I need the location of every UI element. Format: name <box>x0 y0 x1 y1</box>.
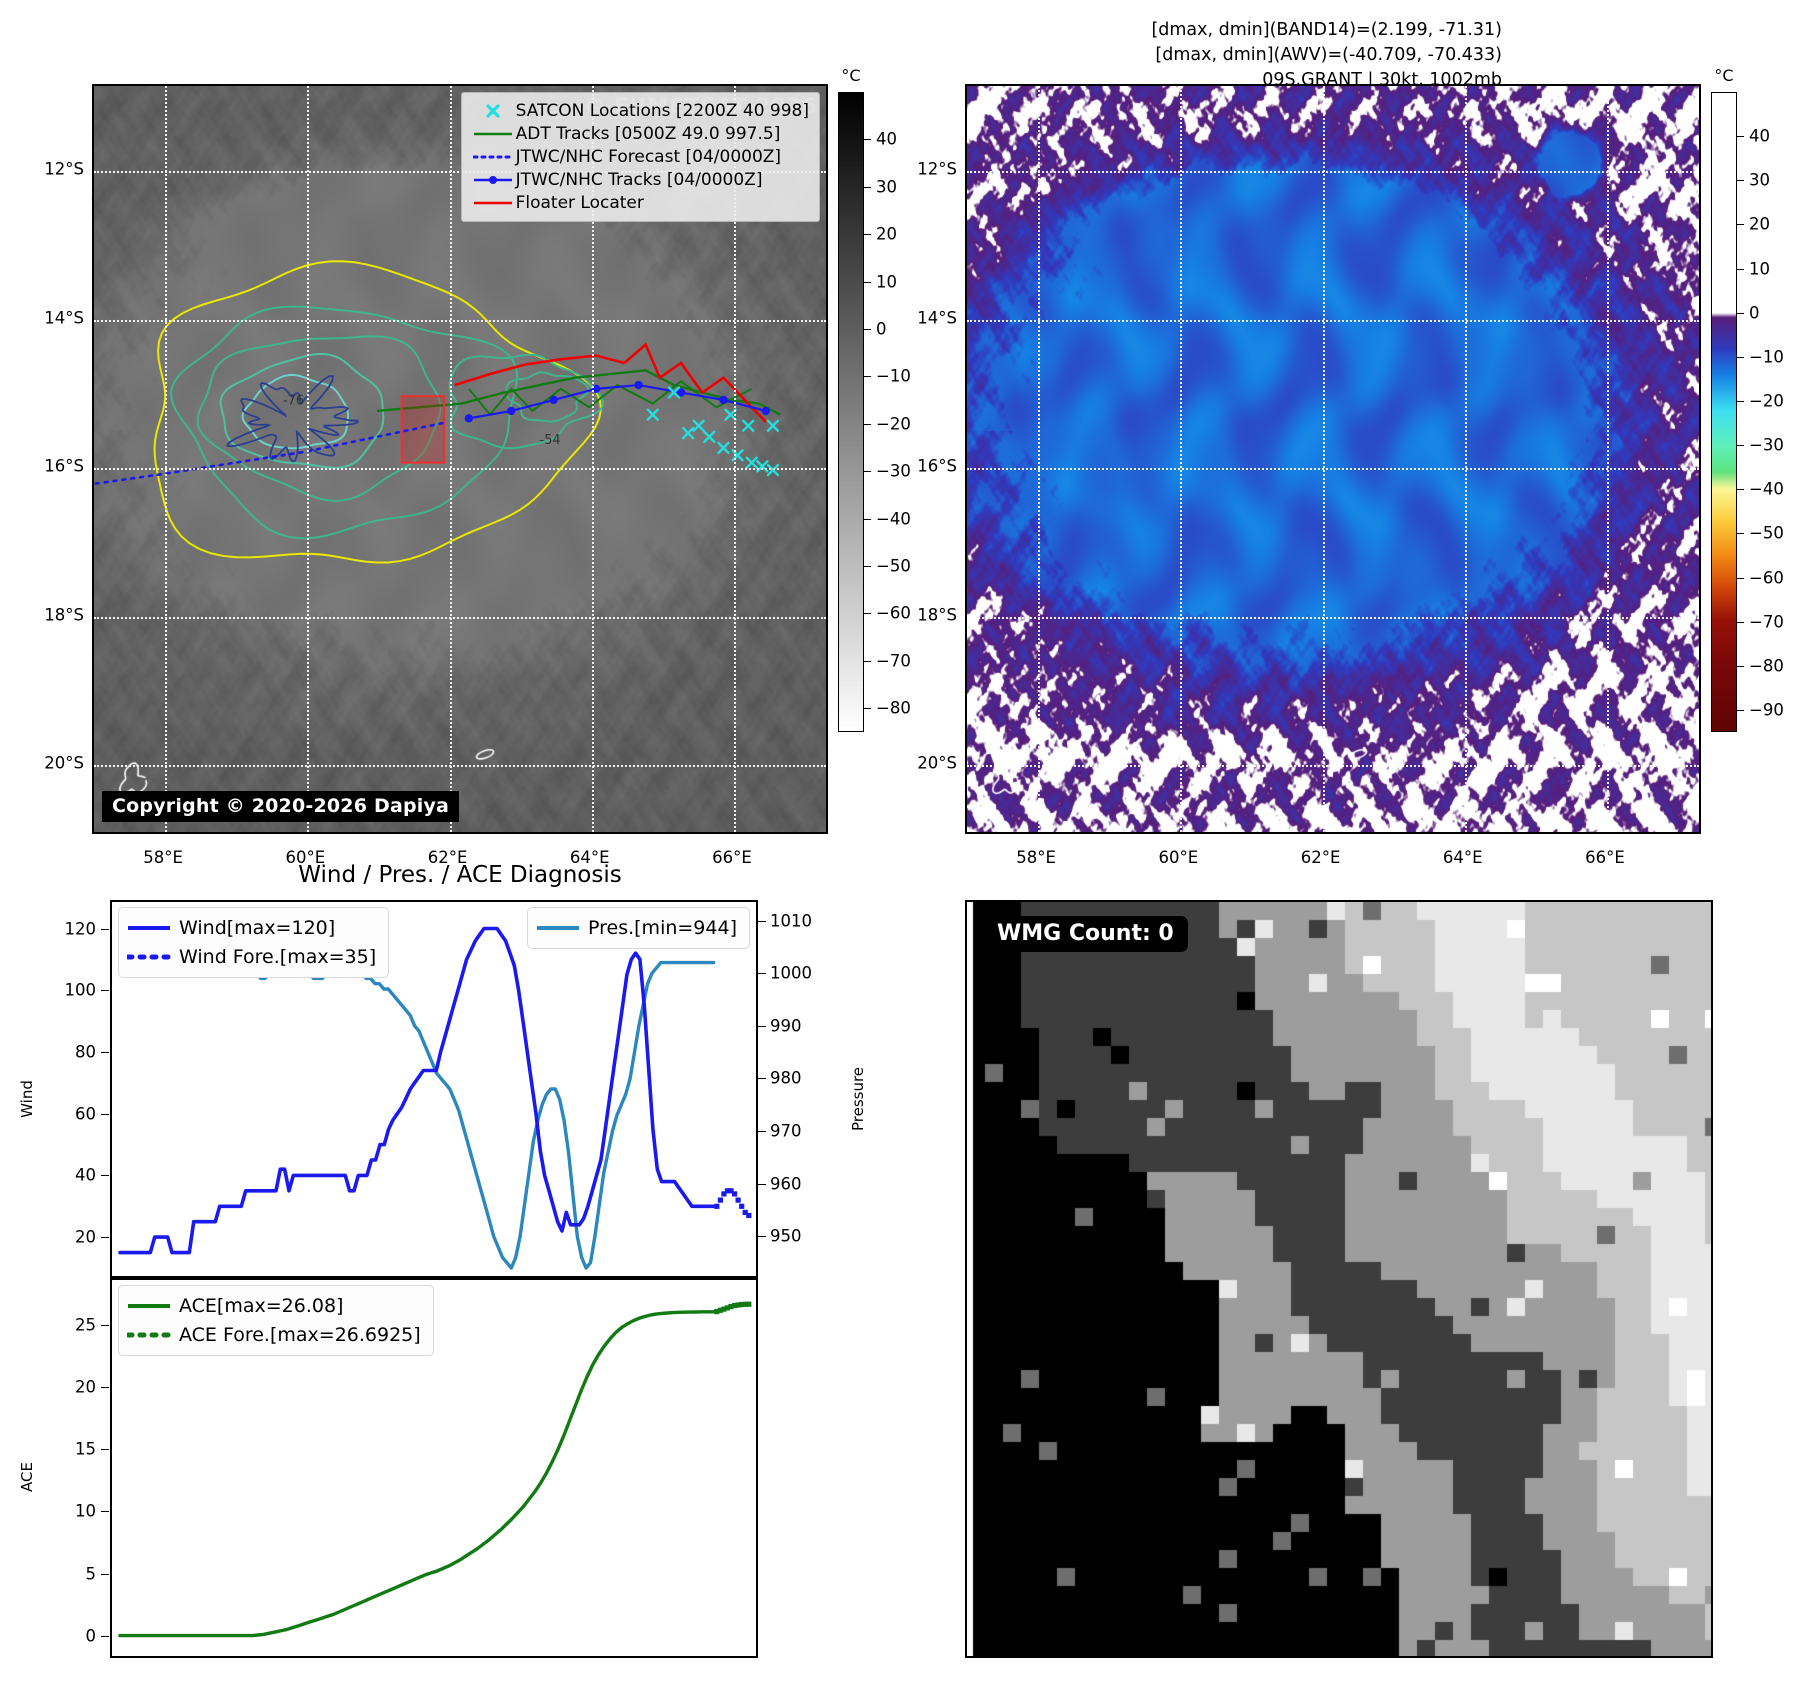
copyright-banner: Copyright © 2020-2026 Dapiya <box>102 791 459 822</box>
colorbar-tick-label: −50 <box>876 557 911 576</box>
colorbar-tickmark <box>864 519 871 520</box>
ace-axis-title: ACE <box>18 1462 36 1492</box>
pressure-legend[interactable]: Pres.[min=944] <box>527 907 750 949</box>
colorbar-tick-label: −90 <box>1749 700 1784 719</box>
colorbar-tick-label: 0 <box>1749 303 1760 322</box>
legend-label: ADT Tracks [0500Z 49.0 997.5] <box>516 124 781 144</box>
diagnosis-title: Wind / Pres. / ACE Diagnosis <box>92 862 828 888</box>
legend-item[interactable]: Wind Fore.[max=35] <box>127 942 376 971</box>
wind-tickmark <box>101 929 109 930</box>
lon-tick-label: 62°E <box>1301 848 1341 867</box>
wmg-count-badge: WMG Count: 0 <box>983 916 1188 952</box>
ace-tick-label: 0 <box>44 1626 96 1645</box>
header-info-block: [dmax, dmin](BAND14)=(2.199, -71.31) [dm… <box>1151 18 1502 93</box>
pressure-tick-label: 980 <box>770 1069 826 1088</box>
colorbar-tick-label: −10 <box>876 367 911 386</box>
wind-tick-label: 40 <box>44 1166 96 1185</box>
colorbar-tickmark <box>1737 710 1744 711</box>
colorbar-tick-label: 30 <box>876 177 897 196</box>
legend-item[interactable]: ACE[max=26.08] <box>127 1291 421 1320</box>
ace-tickmark <box>101 1574 109 1575</box>
wmg-panel[interactable]: WMG Count: 0 <box>965 900 1713 1658</box>
colorbar-tickmark <box>864 708 871 709</box>
lat-tick-label: 12°S <box>887 160 957 179</box>
wind-tickmark <box>101 990 109 991</box>
colorbar-tickmark <box>1737 533 1744 534</box>
lon-tick-label: 60°E <box>1158 848 1198 867</box>
ace-tick-label: 25 <box>44 1316 96 1335</box>
legend-item[interactable]: Pres.[min=944] <box>536 913 737 942</box>
jtwc-track-dot-icon <box>470 175 516 185</box>
colorbar-tickmark <box>864 376 871 377</box>
pressure-tick-label: 1010 <box>770 911 826 930</box>
colorbar-tickmark <box>864 471 871 472</box>
lon-tick-label: 58°E <box>1016 848 1056 867</box>
colorbar-tickmark <box>1737 401 1744 402</box>
colorbar-tick-label: −60 <box>1749 568 1784 587</box>
legend-label: SATCON Locations [2200Z 40 998] <box>516 101 809 121</box>
wind-tickmark <box>101 1114 109 1115</box>
wind-tickmark <box>101 1052 109 1053</box>
lon-tick-label: 66°E <box>1585 848 1625 867</box>
ace-legend[interactable]: ACE[max=26.08] ACE Fore.[max=26.6925] <box>118 1285 434 1356</box>
lat-tick-label: 14°S <box>887 308 957 327</box>
legend-label: Wind[max=120] <box>179 917 335 939</box>
wind-pressure-chart[interactable]: Wind[max=120] Wind Fore.[max=35] Pres.[m… <box>110 900 758 1278</box>
pressure-tickmark <box>758 1078 766 1079</box>
satcon-x-marker-icon <box>470 102 516 120</box>
wmg-cloud-classification-image <box>967 902 1711 1656</box>
ace-tickmark <box>101 1636 109 1637</box>
colorbar-tick-label: −80 <box>876 699 911 718</box>
legend-item[interactable]: JTWC/NHC Tracks [04/0000Z] <box>470 168 809 191</box>
ace-tick-label: 5 <box>44 1564 96 1583</box>
wind-line-icon <box>127 924 179 932</box>
legend-label: ACE Fore.[max=26.6925] <box>179 1324 421 1346</box>
svg-text:-54: -54 <box>540 433 561 448</box>
colorbar-tickmark <box>1737 622 1744 623</box>
wind-tickmark <box>101 1175 109 1176</box>
wind-tick-label: 80 <box>44 1042 96 1061</box>
legend-label: ACE[max=26.08] <box>179 1295 343 1317</box>
colorbar-tick-label: 20 <box>876 225 897 244</box>
pressure-tick-label: 950 <box>770 1227 826 1246</box>
pressure-tickmark <box>758 921 766 922</box>
legend-item[interactable]: SATCON Locations [2200Z 40 998] <box>470 99 809 122</box>
ace-tickmark <box>101 1325 109 1326</box>
colorbar-unit-label: °C <box>841 66 860 85</box>
colorbar-tickmark <box>1737 224 1744 225</box>
colorbar-tickmark <box>864 424 871 425</box>
lat-tick-label: 18°S <box>14 605 84 624</box>
colorbar-tickmark <box>864 139 871 140</box>
adt-track-line-icon <box>470 130 516 138</box>
legend-label: Wind Fore.[max=35] <box>179 946 376 968</box>
lat-tick-label: 20°S <box>887 754 957 773</box>
pressure-tick-label: 990 <box>770 1016 826 1035</box>
wind-tick-label: 100 <box>44 981 96 1000</box>
lat-tick-label: 14°S <box>14 308 84 327</box>
pressure-tickmark <box>758 1026 766 1027</box>
colorbar-tickmark <box>864 661 871 662</box>
colorbar-tick-label: 0 <box>876 320 887 339</box>
colorbar-tickmark <box>1737 313 1744 314</box>
ace-tickmark <box>101 1449 109 1450</box>
colorbar-tickmark <box>864 282 871 283</box>
legend-item[interactable]: ACE Fore.[max=26.6925] <box>127 1320 421 1349</box>
pressure-line-icon <box>536 924 588 932</box>
pressure-tickmark <box>758 973 766 974</box>
ace-tickmark <box>101 1387 109 1388</box>
colorbar-tick-label: 40 <box>1749 127 1770 146</box>
dashboard-root: METEOSAT-9 IR-3KM-DIAS FLOATER Time: 202… <box>0 0 1797 1690</box>
pressure-tick-label: 970 <box>770 1122 826 1141</box>
colorbar-tick-label: −30 <box>1749 436 1784 455</box>
wind-tickmark <box>101 1237 109 1238</box>
wind-axis-title: Wind <box>18 1080 36 1118</box>
colorbar-tickmark <box>1737 269 1744 270</box>
colorbar-tick-label: 10 <box>1749 259 1770 278</box>
ace-tick-label: 20 <box>44 1378 96 1397</box>
colorbar-tick-label: −20 <box>1749 391 1784 410</box>
legend-label: JTWC/NHC Tracks [04/0000Z] <box>516 170 763 190</box>
wind-legend[interactable]: Wind[max=120] Wind Fore.[max=35] <box>118 907 389 978</box>
colorbar-tickmark <box>864 234 871 235</box>
ace-tick-label: 15 <box>44 1440 96 1459</box>
colorbar-tick-label: −70 <box>876 651 911 670</box>
jtwc-forecast-dotted-icon <box>470 153 516 161</box>
legend-item[interactable]: JTWC/NHC Forecast [04/0000Z] <box>470 145 809 168</box>
pressure-tick-label: 1000 <box>770 964 826 983</box>
legend-item[interactable]: Wind[max=120] <box>127 913 376 942</box>
colorbar-tickmark <box>1737 357 1744 358</box>
ace-line-icon <box>127 1302 179 1310</box>
colorbar-tickmark <box>1737 445 1744 446</box>
awv-minmax: [dmax, dmin](AWV)=(-40.709, -70.433) <box>1151 43 1502 68</box>
pressure-tickmark <box>758 1184 766 1185</box>
colorbar-tick-label: −40 <box>876 509 911 528</box>
enhanced-ir-map[interactable] <box>965 84 1701 834</box>
colorbar-tickmark <box>864 329 871 330</box>
colorbar-gradient <box>838 92 864 732</box>
colorbar-tickmark <box>1737 180 1744 181</box>
colorbar-tick-label: −70 <box>1749 612 1784 631</box>
colorbar-tick-label: 30 <box>1749 171 1770 190</box>
legend-item[interactable]: ADT Tracks [0500Z 49.0 997.5] <box>470 122 809 145</box>
colorbar-tick-label: −20 <box>876 414 911 433</box>
legend-label: JTWC/NHC Forecast [04/0000Z] <box>516 147 781 167</box>
wind-tick-label: 60 <box>44 1104 96 1123</box>
floater-locater-line-icon <box>470 199 516 207</box>
lat-tick-label: 16°S <box>14 457 84 476</box>
svg-text:-76: -76 <box>283 394 304 409</box>
band14-minmax: [dmax, dmin](BAND14)=(2.199, -71.31) <box>1151 18 1502 43</box>
colorbar-tickmark <box>1737 578 1744 579</box>
lat-tick-label: 18°S <box>887 605 957 624</box>
lat-tick-label: 20°S <box>14 754 84 773</box>
legend-label: Pres.[min=944] <box>588 917 737 939</box>
ace-tick-label: 10 <box>44 1502 96 1521</box>
colorbar-tick-label: −10 <box>1749 347 1784 366</box>
colorbar-tickmark <box>864 187 871 188</box>
ace-forecast-dotted-icon <box>127 1331 179 1339</box>
colorbar-unit-label: °C <box>1714 66 1733 85</box>
wind-tick-label: 120 <box>44 919 96 938</box>
colorbar-tickmark <box>864 613 871 614</box>
wind-forecast-dotted-icon <box>127 953 179 961</box>
colorbar-tick-label: −40 <box>1749 480 1784 499</box>
lat-tick-label: 12°S <box>14 160 84 179</box>
ace-tickmark <box>101 1511 109 1512</box>
colorbar-tickmark <box>864 566 871 567</box>
legend-label: Floater Locater <box>516 193 644 213</box>
pressure-axis-title: Pressure <box>849 1067 867 1131</box>
map-legend[interactable]: SATCON Locations [2200Z 40 998] ADT Trac… <box>461 92 820 222</box>
colorbar-tickmark <box>1737 136 1744 137</box>
pressure-tickmark <box>758 1131 766 1132</box>
lat-tick-label: 16°S <box>887 457 957 476</box>
legend-item[interactable]: Floater Locater <box>470 191 809 214</box>
enhanced-ir-image <box>967 86 1701 834</box>
ir-grayscale-map[interactable]: -76-54 © EUMETSAT 2026 SATCON Locations … <box>92 84 828 834</box>
colorbar-tick-label: 40 <box>876 130 897 149</box>
colorbar-tick-label: 10 <box>876 272 897 291</box>
colorbar-tick-label: −80 <box>1749 656 1784 675</box>
colorbar-tickmark <box>1737 666 1744 667</box>
colorbar-tick-label: −50 <box>1749 524 1784 543</box>
colorbar-tick-label: 20 <box>1749 215 1770 234</box>
pressure-tickmark <box>758 1236 766 1237</box>
colorbar-tickmark <box>1737 489 1744 490</box>
lon-tick-label: 64°E <box>1443 848 1483 867</box>
pressure-tick-label: 960 <box>770 1174 826 1193</box>
colorbar-gradient <box>1711 92 1737 732</box>
ace-chart[interactable]: ACE[max=26.08] ACE Fore.[max=26.6925] <box>110 1278 758 1658</box>
wind-tick-label: 20 <box>44 1228 96 1247</box>
